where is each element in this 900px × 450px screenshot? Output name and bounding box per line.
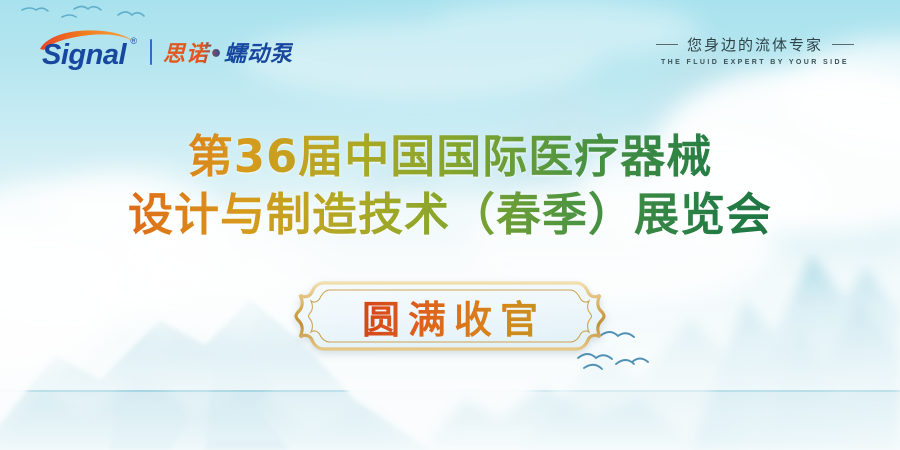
tagline-rule-right [832,44,854,45]
brand-tagline: 您身边的流体专家 THE FLUID EXPERT BY YOUR SIDE [656,34,854,66]
bird-icon [584,365,602,369]
badge-text: 圆满收官 [290,278,610,354]
signal-wordmark: Signal [42,41,126,70]
tagline-chinese-row: 您身边的流体专家 [656,34,854,55]
tagline-chinese: 您身边的流体专家 [687,34,823,55]
status-badge: 圆满收官 [290,278,610,354]
logo-divider [150,39,152,65]
bird-icon [74,7,101,11]
brand-chinese-name: 思诺•蠕动泵 [163,36,293,68]
tagline-rule-left [656,44,678,45]
registered-mark: ® [130,36,137,46]
bird-icon [118,12,144,16]
event-title-line-1: 第36届中国国际医疗器械 [0,128,900,186]
bird-icon [578,354,612,359]
tagline-english: THE FLUID EXPERT BY YOUR SIDE [656,59,854,66]
brand-logo[interactable]: Signal ® 思诺•蠕动泵 [38,28,293,76]
event-title-line-2: 设计与制造技术（春季）展览会 [0,186,900,244]
exhibition-banner: Signal ® 思诺•蠕动泵 您身边的流体专家 THE FLUID EXPER… [0,0,900,450]
signal-logo-mark: Signal ® [38,29,136,75]
bird-icon [616,360,634,364]
bird-icon [62,15,76,17]
bird-icon [22,8,48,11]
event-title: 第36届中国国际医疗器械 设计与制造技术（春季）展览会 [0,128,900,244]
bird-icon [632,359,648,363]
